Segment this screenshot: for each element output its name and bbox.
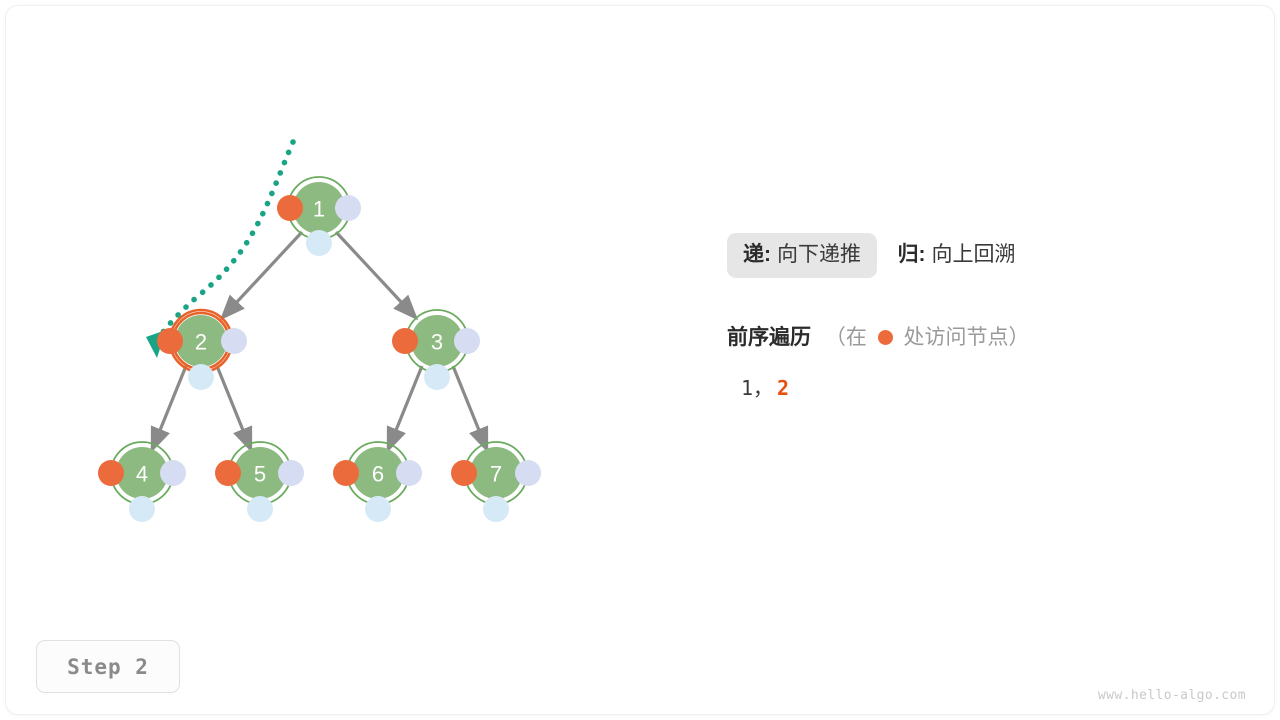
node-2-visit-dot-icon [157,328,183,354]
node-7-bottom-dot-icon [483,496,509,522]
traversal-paren-close: 处访问节点） [904,326,1030,349]
sequence-item-0: 1 [741,376,753,400]
sequence-item-1: 2 [777,376,789,400]
node-1-bottom-dot-icon [306,230,332,256]
watermark: www.hello-algo.com [1098,688,1246,703]
traversal-title: 前序遍历 [727,326,811,349]
node-5-bottom-dot-icon [247,496,273,522]
watermark-text: www.hello-algo.com [1098,688,1246,703]
step-badge: Step 2 [36,640,180,693]
node-7-label: 7 [490,462,502,487]
legend-back-lead: 归: [897,243,925,266]
recursion-dotted-path [160,142,293,336]
legend-recurse-row: 递:向下递推 [727,233,877,278]
edge-n1-n3 [336,232,416,318]
node-1-label: 1 [313,197,325,222]
binary-tree-diagram: 1 2 3 4 [0,0,700,600]
legend-back-row: 归:向上回溯 [881,233,1031,278]
node-3-right-dot-icon [454,328,480,354]
traversal-title-row: 前序遍历 （在 处访问节点） [727,323,1207,352]
node-3-visit-dot-icon [392,328,418,354]
node-2-label: 2 [195,330,207,355]
node-1-right-dot-icon [335,195,361,221]
node-6-label: 6 [372,462,384,487]
edge-n1-n2 [222,232,302,318]
node-4-visit-dot-icon [98,460,124,486]
orange-visit-dot-icon [878,330,893,345]
node-6-visit-dot-icon [333,460,359,486]
edge-n2-n5 [217,366,251,450]
tree-node-7[interactable]: 7 [451,442,541,522]
edge-n2-n4 [152,366,186,450]
node-4-label: 4 [136,462,148,487]
legend-panel: 递:向下递推 归:向上回溯 前序遍历 （在 处访问节点） 1，2 [727,233,1207,401]
illustration-canvas: 1 2 3 4 [0,0,1280,720]
edge-n3-n7 [453,366,487,450]
node-3-bottom-dot-icon [424,364,450,390]
node-5-visit-dot-icon [215,460,241,486]
tree-node-5[interactable]: 5 [215,442,304,522]
node-5-label: 5 [254,462,266,487]
traversal-sequence: 1，2 [727,372,1207,401]
node-6-bottom-dot-icon [365,496,391,522]
tree-node-3[interactable]: 3 [392,310,480,390]
sequence-separator-0: ， [753,376,773,400]
legend-recurse-text: 向下递推 [777,243,861,266]
edge-n3-n6 [388,366,422,450]
traversal-block: 前序遍历 （在 处访问节点） 1，2 [727,323,1207,400]
node-7-right-dot-icon [515,460,541,486]
node-7-visit-dot-icon [451,460,477,486]
legend-recurse-lead: 递: [743,243,771,266]
node-6-right-dot-icon [396,460,422,486]
traversal-paren-open: （在 [825,326,867,349]
tree-node-4[interactable]: 4 [98,442,186,522]
tree-node-6[interactable]: 6 [333,442,422,522]
node-2-right-dot-icon [221,328,247,354]
node-1-visit-dot-icon [277,195,303,221]
node-4-right-dot-icon [160,460,186,486]
node-5-right-dot-icon [278,460,304,486]
step-badge-label: Step 2 [67,655,149,679]
node-3-label: 3 [431,330,443,355]
legend-back-text: 向上回溯 [931,243,1015,266]
node-4-bottom-dot-icon [129,496,155,522]
node-2-bottom-dot-icon [188,364,214,390]
